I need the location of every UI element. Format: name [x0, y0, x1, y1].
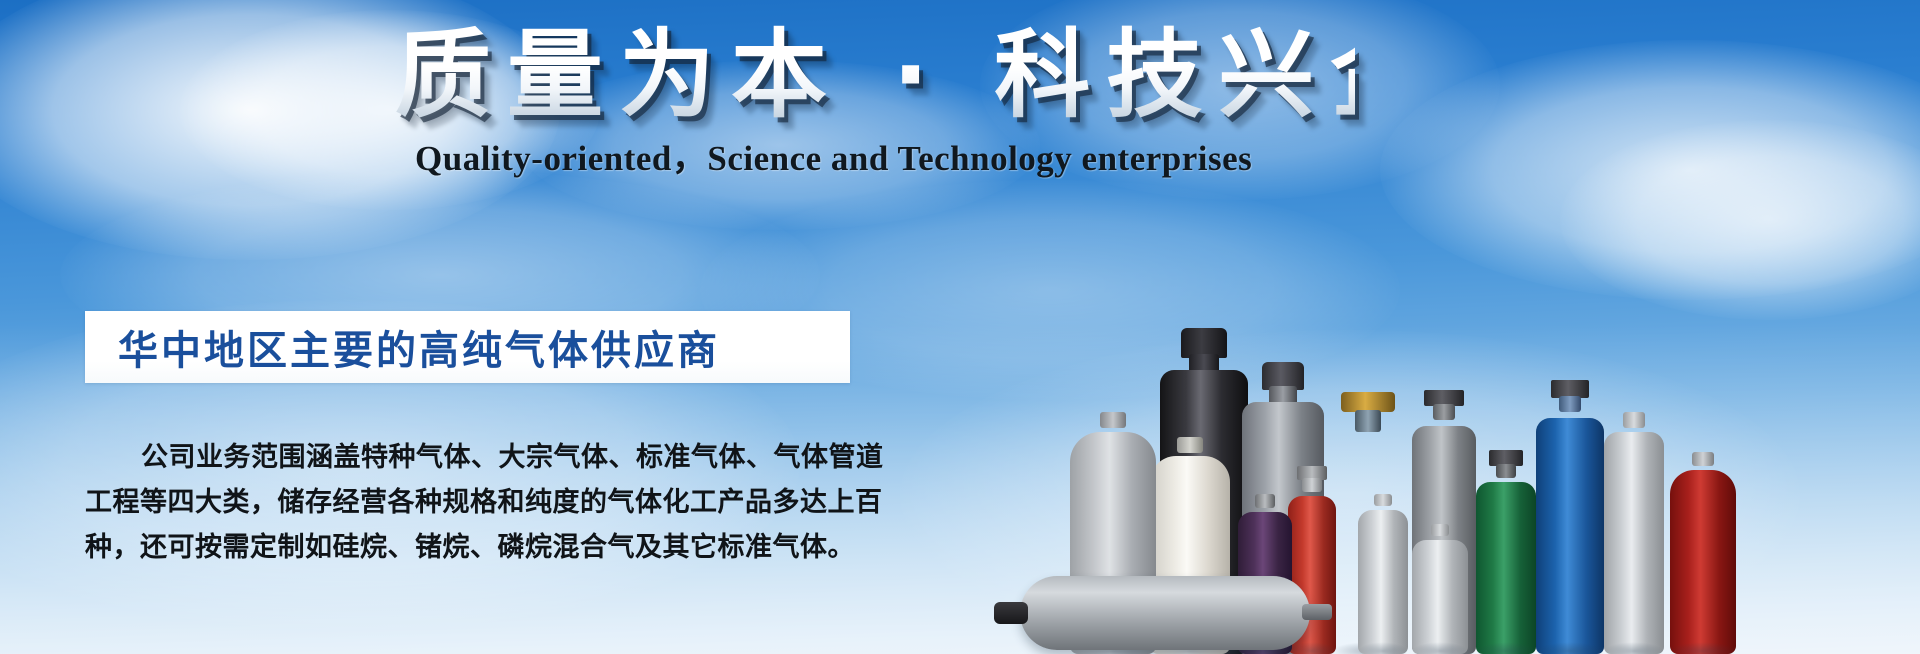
blue-cylinder: [1536, 408, 1604, 654]
aluminium-cylinder: [1604, 424, 1664, 654]
gas-cylinder-group-photo: [1160, 165, 1920, 654]
dark-red-cylinder: [1670, 462, 1736, 654]
tank-valve: [994, 602, 1028, 624]
slogan-box: 华中地区主要的高纯气体供应商: [85, 311, 850, 383]
horizontal-grey-tank: [1020, 576, 1310, 650]
banner-headline: 质量为本 · 科技兴企: [395, 22, 1355, 130]
paragraph-line-2: 工程等四大类，储存经营各种规格和纯度的气体化工产品多达上百: [85, 480, 875, 525]
slogan-text: 华中地区主要的高纯气体供应商: [85, 318, 720, 376]
green-cylinder: [1476, 474, 1536, 654]
aluminium-cylinder: [1358, 504, 1408, 654]
paragraph-line-1: 公司业务范围涵盖特种气体、大宗气体、标准气体、气体管道: [85, 435, 875, 480]
promo-banner: 质量为本 · 科技兴企 Quality-oriented，Science and…: [0, 0, 1920, 654]
tank-nozzle: [1302, 604, 1332, 620]
aluminium-cylinder: [1412, 534, 1468, 654]
banner-paragraph: 公司业务范围涵盖特种气体、大宗气体、标准气体、气体管道 工程等四大类，储存经营各…: [85, 435, 875, 570]
paragraph-line-3: 种，还可按需定制如硅烷、锗烷、磷烷混合气及其它标准气体。: [85, 525, 875, 570]
